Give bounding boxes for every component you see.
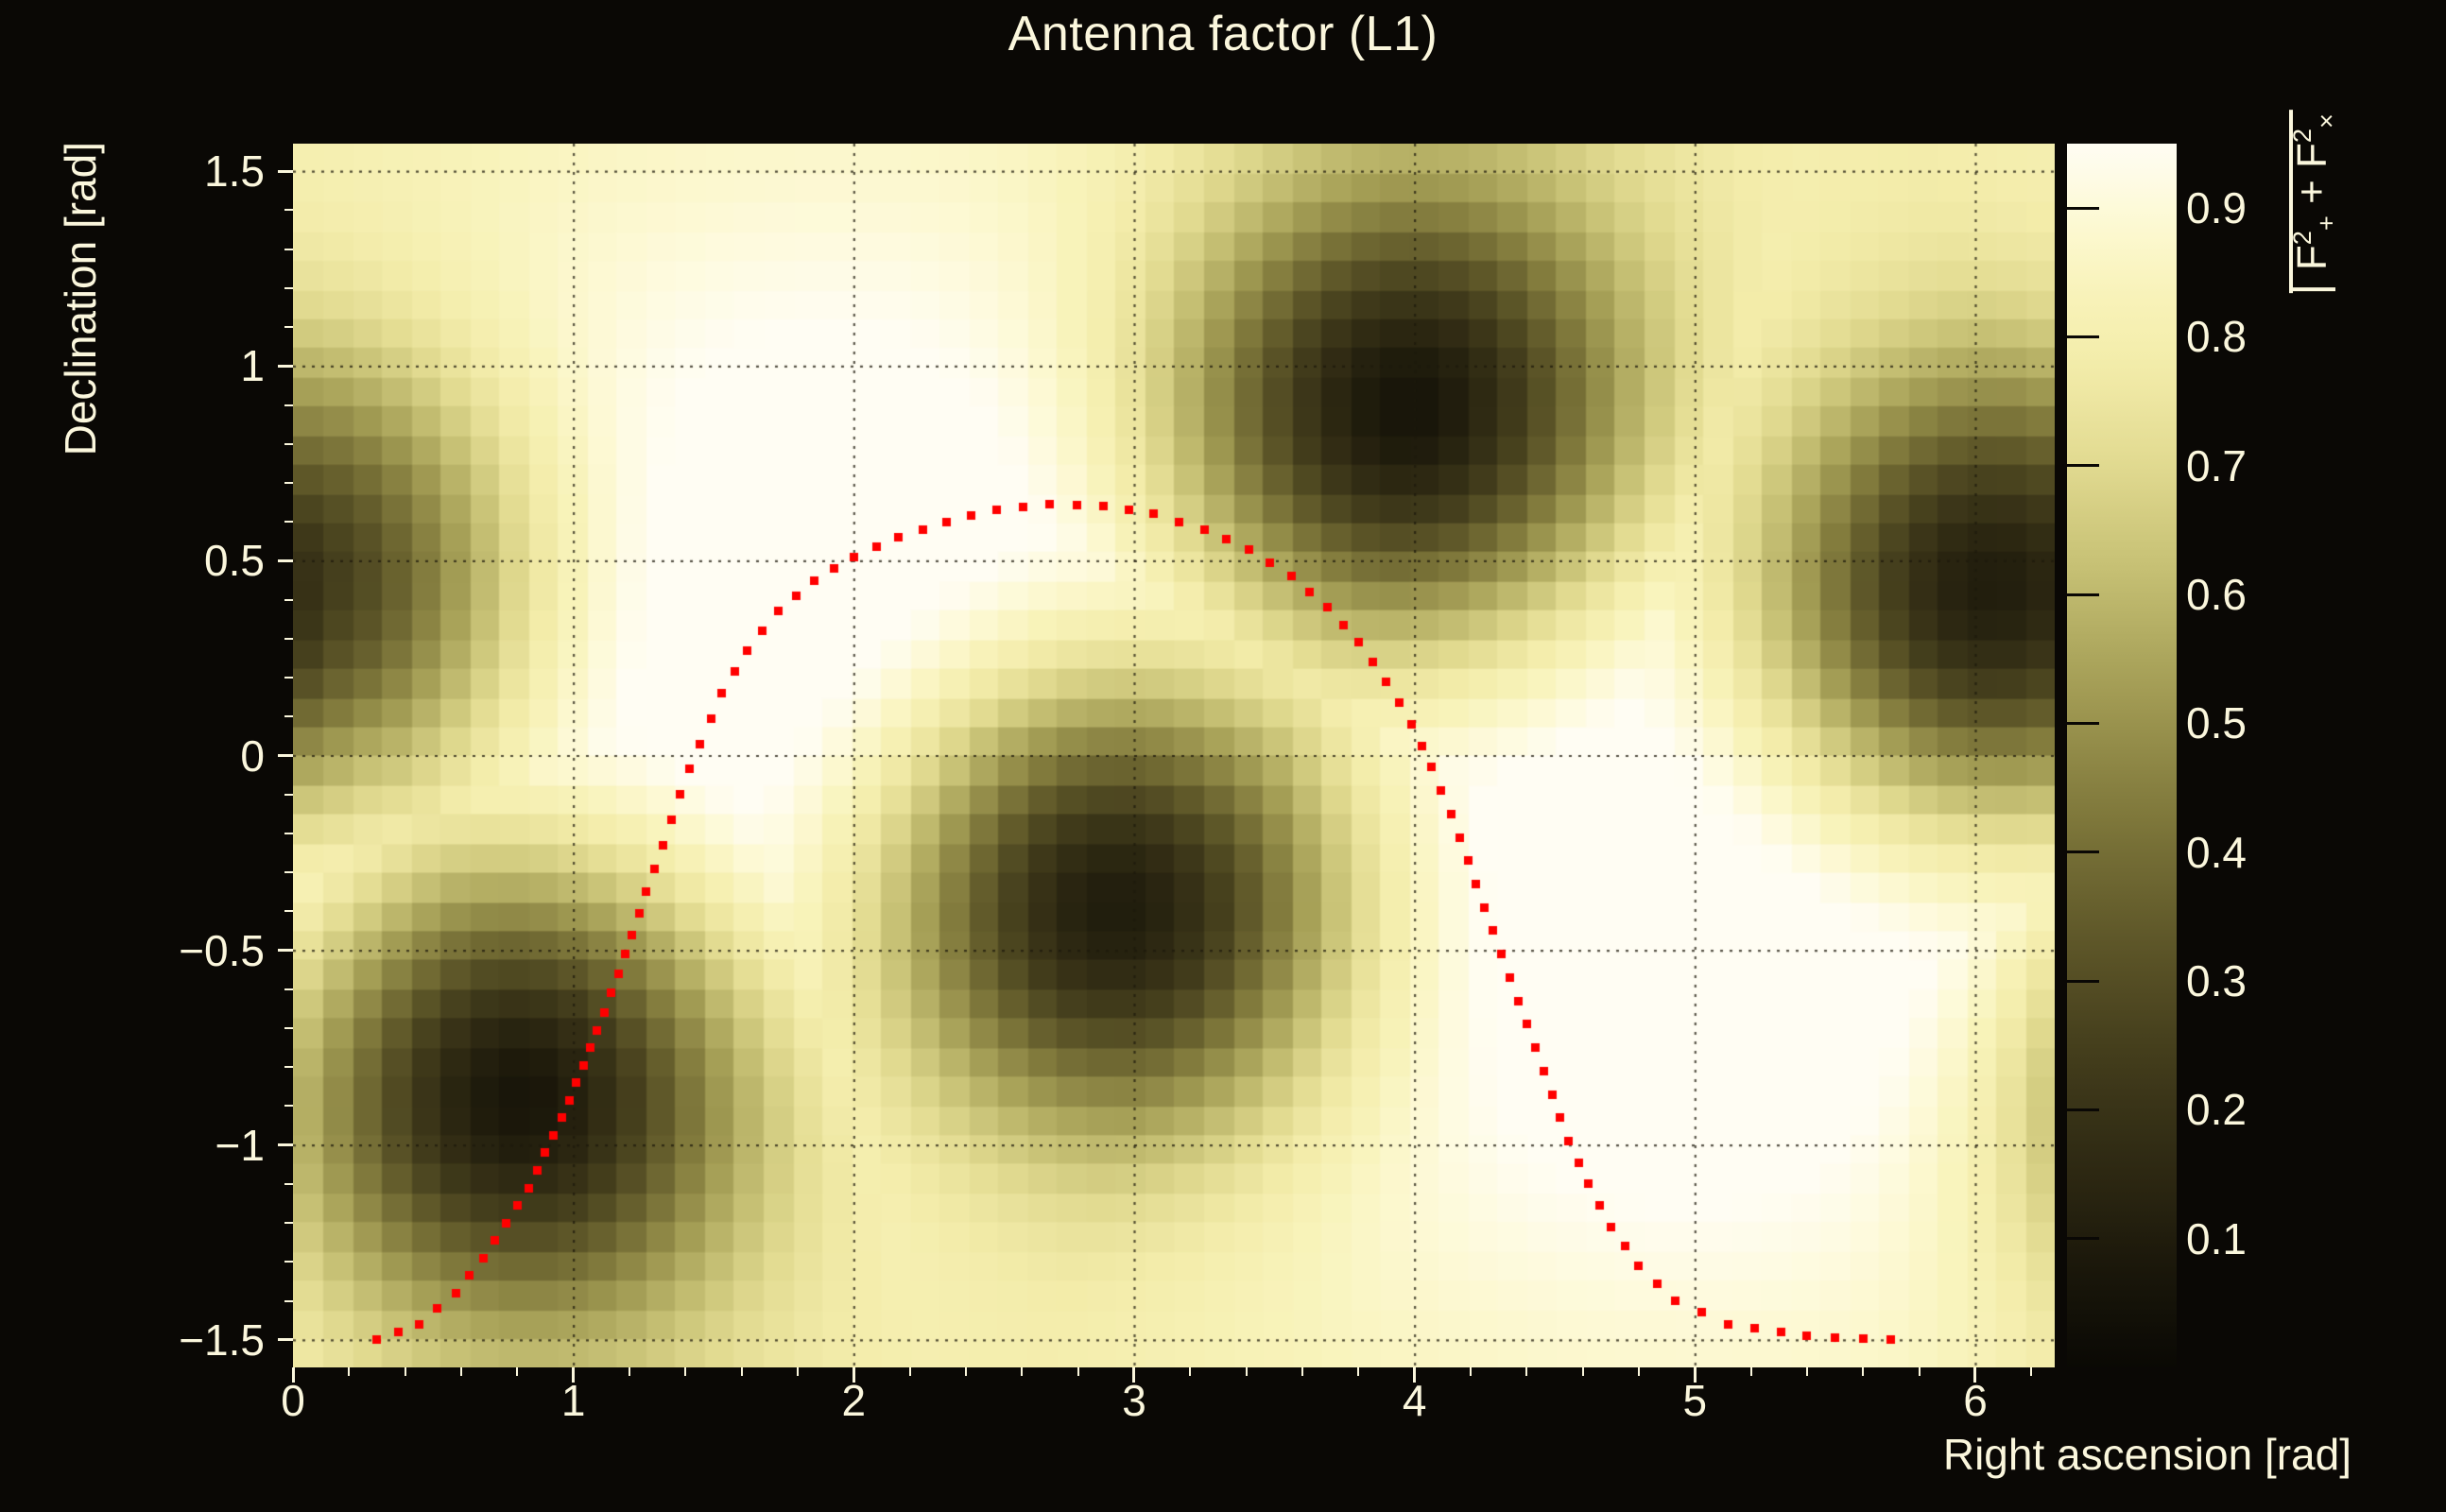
y-tick-label: 1.5 [104,146,265,197]
y-minor-tick [284,1300,293,1302]
y-tick-label: −0.5 [104,925,265,976]
x-tick-label: 6 [1919,1375,2032,1426]
y-minor-tick [284,715,293,717]
f-plus-sub: + [2311,215,2340,231]
y-axis-title: Declination [rad] [55,142,106,455]
x-minor-tick [1525,1367,1527,1376]
colorbar-tick-mark [2067,593,2099,596]
colorbar-tick-mark [2067,1108,2099,1111]
y-minor-tick [284,1066,293,1068]
x-minor-tick [1246,1367,1248,1376]
x-minor-tick [1189,1367,1191,1376]
colorbar-tick-mark [2067,335,2099,338]
x-minor-tick [348,1367,350,1376]
y-minor-tick [284,638,293,640]
x-axis-title: Right ascension [rad] [1943,1429,2351,1480]
f-cross-symbol: F [2289,143,2335,168]
colorbar-tick-label: 0.6 [2186,569,2247,620]
colorbar-tick-mark [2067,207,2099,210]
x-minor-tick [1470,1367,1472,1376]
x-minor-tick [1582,1367,1584,1376]
colorbar-tick-label: 0.3 [2186,955,2247,1006]
x-minor-tick [1357,1367,1359,1376]
x-minor-tick [684,1367,686,1376]
colorbar-tick-label: 0.5 [2186,697,2247,748]
colorbar-tick-label: 0.2 [2186,1084,2247,1135]
colorbar-gradient [2067,144,2177,1367]
y-tick-mark [278,754,293,757]
colorbar-tick-label: 0.1 [2186,1213,2247,1264]
x-minor-tick [797,1367,799,1376]
x-minor-tick [1638,1367,1640,1376]
colorbar-tick-mark [2067,1237,2099,1240]
x-minor-tick [460,1367,462,1376]
x-minor-tick [965,1367,967,1376]
colorbar-tick-mark [2067,722,2099,725]
y-minor-tick [284,209,293,211]
colorbar-tick-mark [2067,850,2099,853]
heatmap-image [293,144,2055,1367]
y-minor-tick [284,404,293,406]
x-minor-tick [1919,1367,1921,1376]
y-minor-tick [284,326,293,328]
y-tick-mark [278,559,293,562]
plot-canvas: Antenna factor (L1) Right ascension [rad… [0,0,2446,1512]
f-plus-symbol: F [2289,245,2335,270]
y-minor-tick [284,287,293,289]
x-minor-tick [1750,1367,1752,1376]
y-minor-tick [284,988,293,990]
x-minor-tick [1301,1367,1303,1376]
x-minor-tick [2030,1367,2032,1376]
x-tick-label: 1 [517,1375,630,1426]
x-tick-label: 5 [1638,1375,1751,1426]
plus-operator: + [2289,168,2335,215]
y-minor-tick [284,249,293,250]
y-tick-mark [278,365,293,368]
colorbar-tick-label: 0.9 [2186,182,2247,233]
colorbar-tick-label: 0.8 [2186,311,2247,362]
y-minor-tick [284,794,293,796]
x-tick-label: 3 [1077,1375,1191,1426]
x-minor-tick [1862,1367,1864,1376]
y-minor-tick [284,482,293,484]
sqrt-expression: F2+ + F2× [2287,113,2341,295]
x-minor-tick [1806,1367,1808,1376]
heatmap-frame [293,144,2055,1367]
colorbar-tick-label: 0.4 [2186,827,2247,878]
x-minor-tick [909,1367,911,1376]
colorbar [2067,144,2177,1367]
x-tick-label: 4 [1358,1375,1472,1426]
y-minor-tick [284,1027,293,1029]
y-tick-mark [278,1338,293,1341]
y-minor-tick [284,443,293,445]
y-tick-mark [278,1143,293,1146]
x-minor-tick [741,1367,743,1376]
x-minor-tick [405,1367,406,1376]
y-minor-tick [284,1222,293,1224]
page-title: Antenna factor (L1) [0,6,2446,62]
y-tick-label: −1.5 [104,1314,265,1366]
y-tick-label: 0 [104,730,265,782]
y-minor-tick [284,910,293,912]
y-tick-label: 0.5 [104,535,265,586]
colorbar-axis-title: F2+ + F2× [2287,113,2341,295]
y-tick-mark [278,949,293,952]
colorbar-tick-mark [2067,464,2099,467]
y-minor-tick [284,599,293,601]
y-minor-tick [284,1105,293,1107]
f-cross-sub: × [2311,113,2340,129]
x-minor-tick [629,1367,630,1376]
f-cross-sup: 2 [2287,129,2317,143]
y-tick-mark [278,170,293,173]
f-plus-sup: 2 [2287,231,2317,245]
y-minor-tick [284,1261,293,1263]
y-tick-label: 1 [104,340,265,391]
x-tick-label: 0 [236,1375,350,1426]
y-minor-tick [284,833,293,834]
x-minor-tick [1021,1367,1023,1376]
y-minor-tick [284,677,293,679]
y-tick-label: −1 [104,1120,265,1171]
x-minor-tick [516,1367,518,1376]
colorbar-tick-label: 0.7 [2186,440,2247,491]
y-minor-tick [284,1183,293,1185]
x-minor-tick [1077,1367,1079,1376]
y-minor-tick [284,521,293,523]
y-minor-tick [284,871,293,873]
x-tick-label: 2 [797,1375,910,1426]
colorbar-tick-mark [2067,980,2099,983]
